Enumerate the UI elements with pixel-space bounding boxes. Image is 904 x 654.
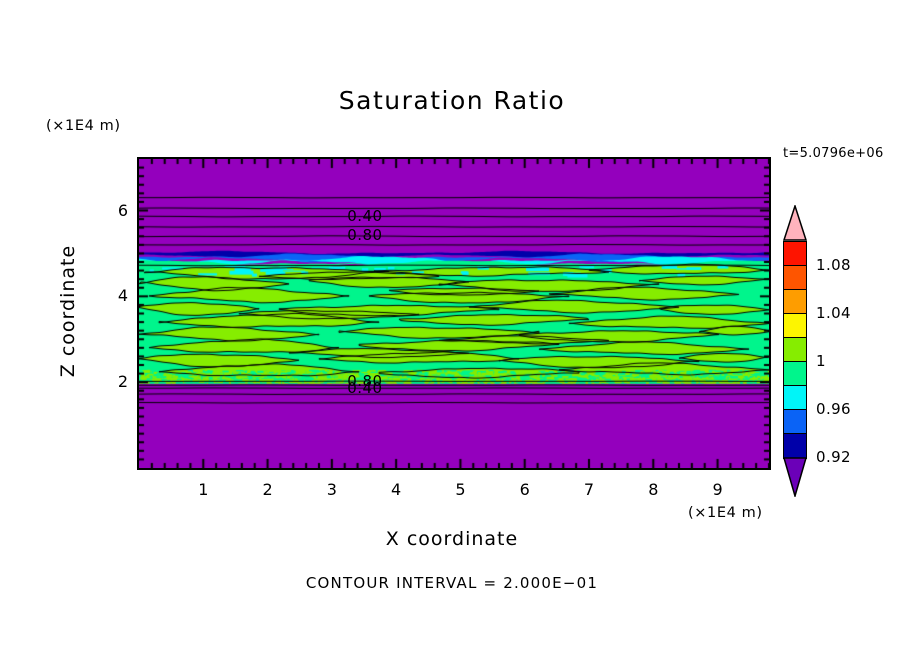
colorbar-tick-label: 1 <box>816 352 826 370</box>
colorbar-band <box>783 313 807 339</box>
x-tick-label: 2 <box>253 480 283 499</box>
x-tick-label: 4 <box>381 480 411 499</box>
colorbar-band <box>783 289 807 315</box>
colorbar-band <box>783 337 807 363</box>
colorbar-tick-label: 1.08 <box>816 256 851 274</box>
colorbar-extend-max-arrow <box>783 205 807 241</box>
x-axis-title: X coordinate <box>0 528 904 550</box>
colorbar[interactable]: 1.081.0410.960.92 <box>780 205 820 525</box>
x-tick-label: 7 <box>574 480 604 499</box>
contour-label: 0.40 <box>347 379 382 397</box>
contour-label: 0.40 <box>347 207 382 225</box>
colorbar-band <box>783 433 807 459</box>
contour-plot-area[interactable]: 0.40 0.80 0.80 0.40 <box>137 157 771 470</box>
colorbar-tick-label: 1.04 <box>816 304 851 322</box>
timestamp-label: t=5.0796e+06 <box>783 146 884 161</box>
contour-field-canvas <box>139 159 769 468</box>
contour-label: 0.80 <box>347 226 382 244</box>
colorbar-extend-min-arrow <box>783 457 807 497</box>
contour-interval-note: CONTOUR INTERVAL = 2.000E−01 <box>0 574 904 592</box>
x-tick-label: 3 <box>317 480 347 499</box>
y-tick-label: 4 <box>108 286 128 305</box>
colorbar-band <box>783 265 807 291</box>
x-tick-label: 8 <box>638 480 668 499</box>
y-axis-title: Z coordinate <box>57 221 79 401</box>
colorbar-band <box>783 385 807 411</box>
x-tick-label: 5 <box>445 480 475 499</box>
x-tick-label: 1 <box>188 480 218 499</box>
y-tick-label: 6 <box>108 201 128 220</box>
colorbar-band <box>783 361 807 387</box>
y-tick-label: 2 <box>108 372 128 391</box>
y-axis-units-label: (×1E4 m) <box>46 118 121 134</box>
colorbar-band <box>783 241 807 267</box>
colorbar-tick-label: 0.96 <box>816 400 851 418</box>
colorbar-band <box>783 409 807 435</box>
page-title: Saturation Ratio <box>0 86 904 115</box>
colorbar-tick-label: 0.92 <box>816 448 851 466</box>
x-tick-label: 6 <box>510 480 540 499</box>
x-axis-units-label: (×1E4 m) <box>688 505 763 521</box>
x-tick-label: 9 <box>703 480 733 499</box>
